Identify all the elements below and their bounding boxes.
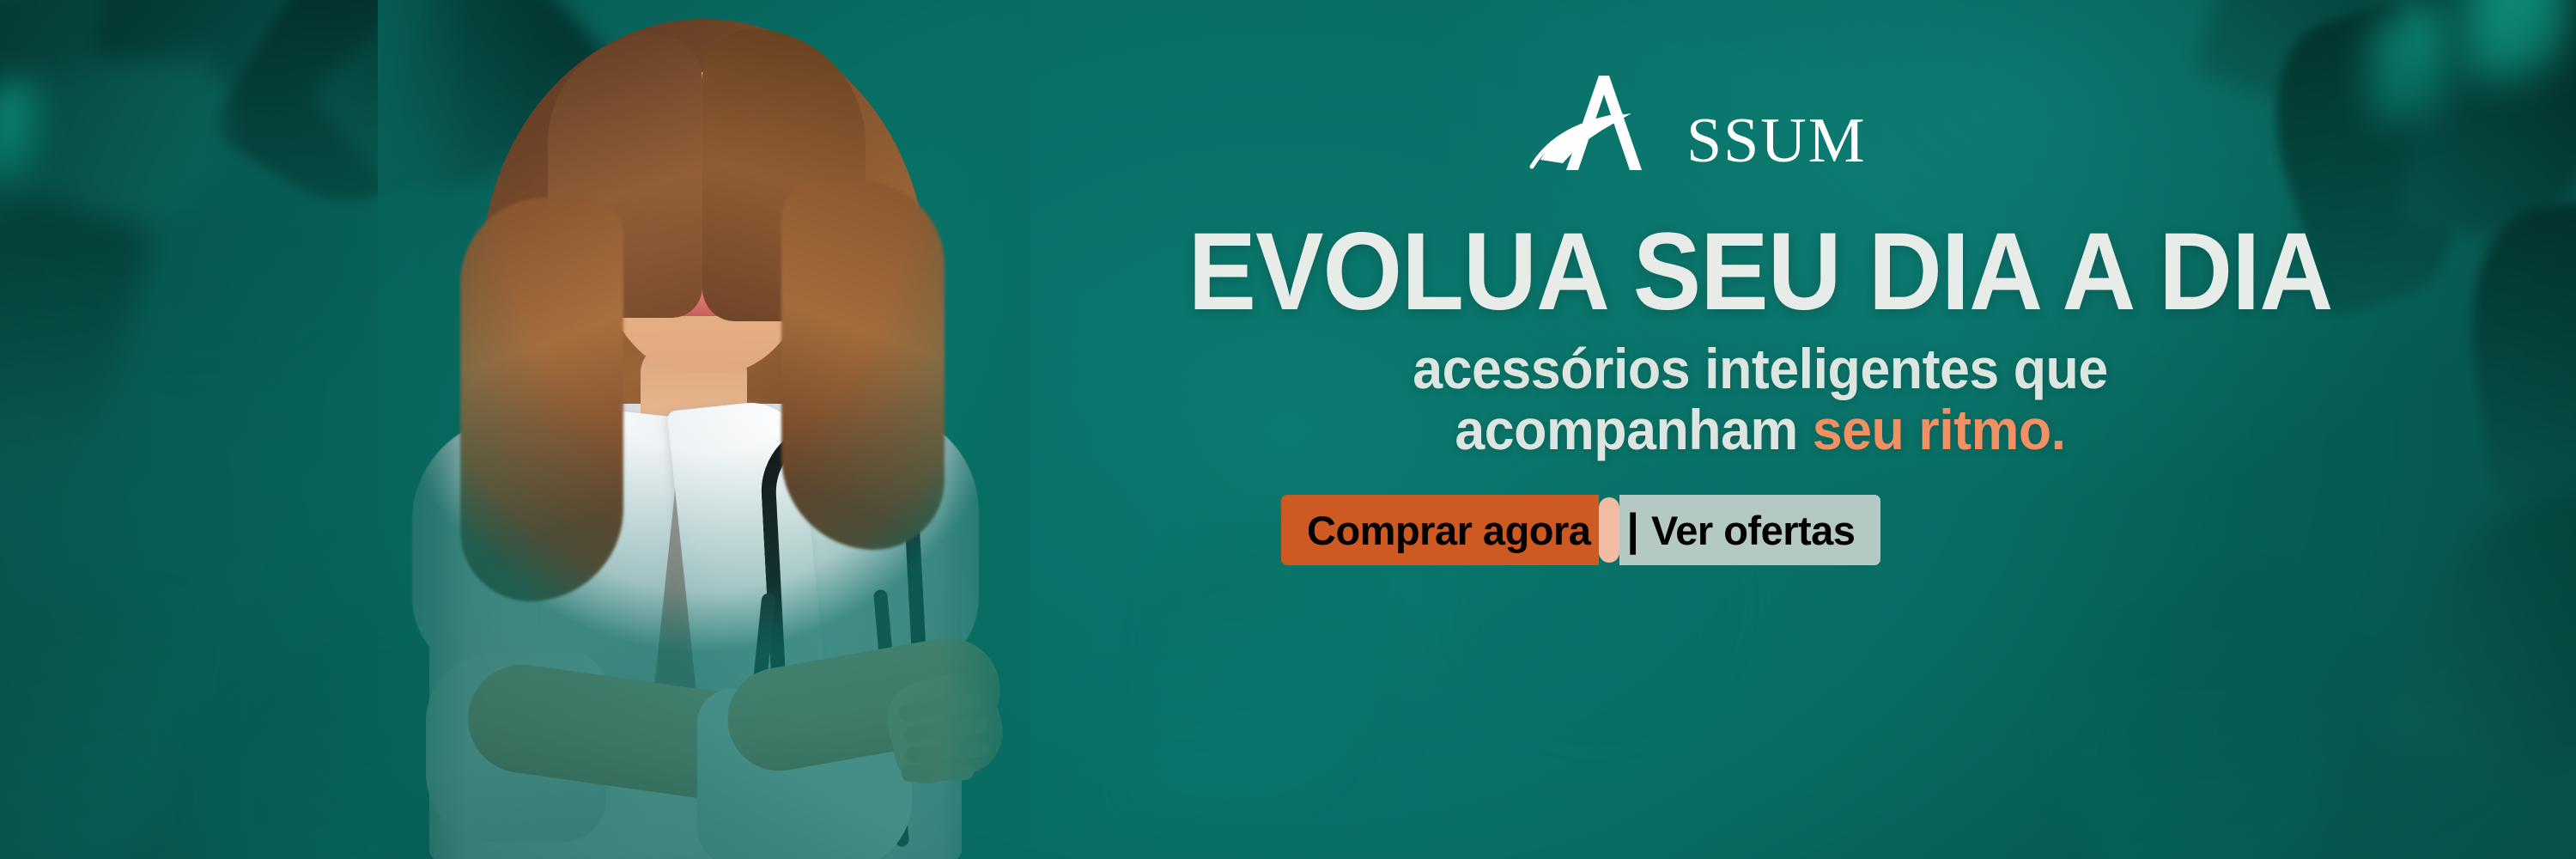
banner-content: SSUM EVOLUA SEU DIA A DIA acessórios int… xyxy=(1065,0,2456,859)
subheadline-accent: seu ritmo. xyxy=(1813,398,2066,461)
headline: EVOLUA SEU DIA A DIA xyxy=(1114,217,2408,327)
subheadline: acessórios inteligentes que acompanham s… xyxy=(1100,340,2421,460)
brand-logo[interactable]: SSUM xyxy=(1528,76,1867,170)
view-offers-button[interactable]: Ver ofertas xyxy=(1646,495,1880,565)
cta-button-group: Comprar agora | Ver ofertas xyxy=(1281,495,1880,565)
subheadline-line-1: acessórios inteligentes que xyxy=(1413,337,2108,400)
subheadline-line-2-plain: acompanham xyxy=(1455,398,1812,461)
cta-separator: | xyxy=(1619,495,1646,565)
subheadline-line-2: acompanham seu ritmo. xyxy=(1100,401,2421,459)
buy-now-button[interactable]: Comprar agora xyxy=(1281,495,1599,565)
promo-banner: SSUM EVOLUA SEU DIA A DIA acessórios int… xyxy=(0,0,2576,859)
button-divider-pill xyxy=(1599,497,1619,563)
brand-wordmark: SSUM xyxy=(1686,112,1867,170)
leaf-a-monogram-icon xyxy=(1528,74,1692,170)
separator-glyph: | xyxy=(1626,508,1639,552)
